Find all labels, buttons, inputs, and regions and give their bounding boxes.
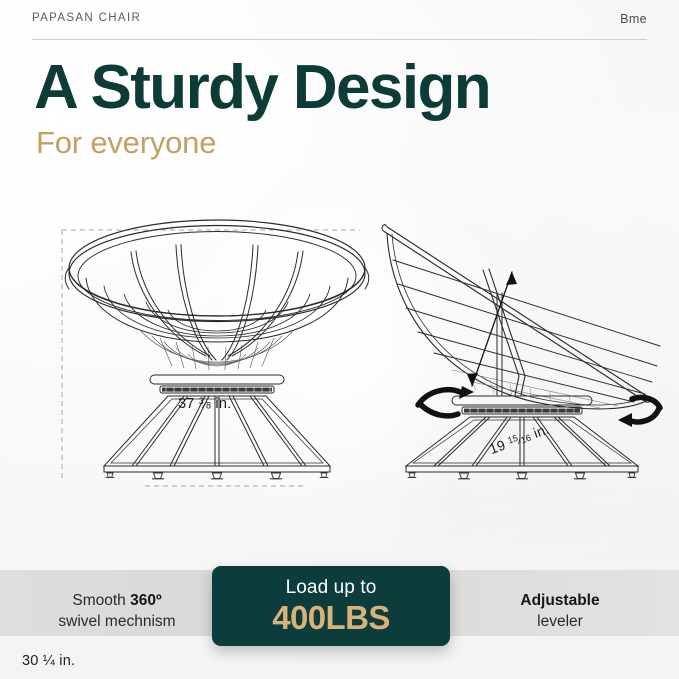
feature-leveler-line2: leveler — [537, 613, 583, 630]
header-divider — [32, 39, 647, 40]
dimension-diagram: 37 3⁄8 in. 30 ¼ in. 24 in. 19 15⁄16 in. — [0, 190, 679, 520]
page-subtitle: For everyone — [36, 126, 216, 160]
page-title: A Sturdy Design — [34, 57, 490, 119]
infographic-page: PAPASAN CHAIR Bme A Sturdy Design For ev… — [0, 0, 679, 679]
header: PAPASAN CHAIR Bme — [32, 12, 647, 46]
load-capacity-caption: Load up to — [286, 577, 377, 599]
feature-leveler-line1: Adjustable — [520, 592, 599, 609]
load-capacity-value: 400LBS — [272, 600, 389, 636]
leveler-feet-front — [106, 473, 328, 479]
feature-swivel: Smooth 360º swivel mechnism — [12, 590, 222, 632]
swivel-arrow-right — [618, 397, 660, 427]
dimension-label-width: 37 3⁄8 in. — [178, 396, 231, 412]
feature-leveler: Adjustable leveler — [455, 590, 665, 632]
leveler-feet-side — [408, 473, 636, 479]
load-capacity-badge: Load up to 400LBS — [212, 566, 450, 646]
product-category-label: PAPASAN CHAIR — [32, 12, 141, 24]
feature-swivel-line1-prefix: Smooth — [72, 592, 130, 609]
chair-technical-drawing — [0, 190, 679, 520]
feature-swivel-line2: swivel mechnism — [58, 613, 175, 630]
front-view-group — [65, 220, 369, 479]
dimension-guide-lines — [62, 230, 360, 486]
brand-logo-text: Bme — [620, 12, 647, 26]
feature-swivel-degrees: 360º — [130, 592, 162, 609]
dimension-label-height: 30 ¼ in. — [22, 653, 75, 669]
